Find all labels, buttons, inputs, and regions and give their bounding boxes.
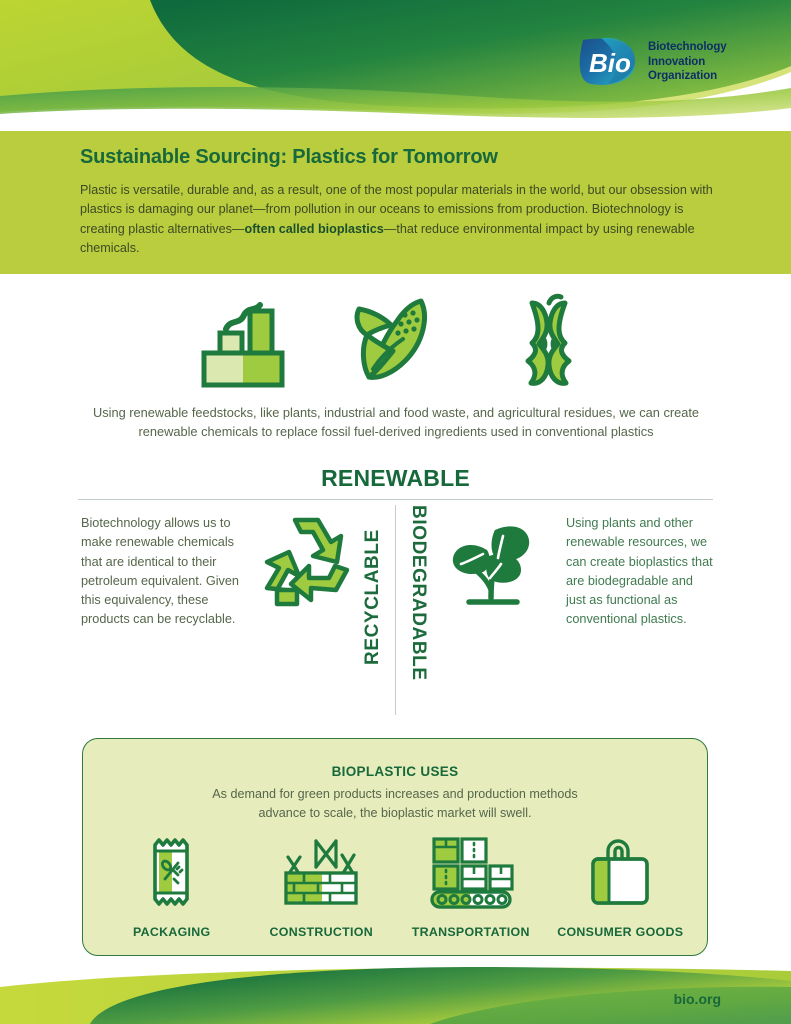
logo-line-1: Biotechnology [648,40,727,55]
apple-core-icon [501,291,596,396]
conveyor-boxes-icon [428,835,514,914]
use-label-packaging: PACKAGING [133,925,211,939]
uses-subtitle: As demand for green products increases a… [195,785,595,823]
biodegradable-description: Using plants and other renewable resourc… [566,514,716,630]
use-item-consumer-goods: CONSUMER GOODS [546,835,696,939]
uses-icon-grid: PACKAGING [97,835,695,939]
bio-logo[interactable]: Bio Biotechnology Innovation Organizatio… [577,34,727,90]
feedstock-caption: Using renewable feedstocks, like plants,… [80,403,712,441]
logo-line-3: Organization [648,69,727,84]
renewable-heading: RENEWABLE [0,465,791,492]
uses-title: BIOPLASTIC USES [83,764,707,779]
feedstock-icon-row [196,291,596,396]
use-item-transportation: TRANSPORTATION [396,835,546,939]
brick-wall-icon [282,835,360,914]
header-band: Sustainable Sourcing: Plastics for Tomor… [0,131,791,274]
vertical-label-biodegradable: BIODEGRADABLE [407,505,429,715]
page-title: Sustainable Sourcing: Plastics for Tomor… [80,146,498,169]
vertical-label-recyclable: RECYCLABLE [362,505,384,665]
section-divider [78,499,713,500]
svg-text:Bio: Bio [589,48,631,78]
food-package-icon [141,835,203,914]
use-label-construction: CONSTRUCTION [270,925,373,939]
infographic-page: Bio Biotechnology Innovation Organizatio… [0,0,791,1024]
bio-leaf-logo-icon: Bio [577,34,639,90]
plant-sprout-icon [443,512,543,622]
use-label-consumer-goods: CONSUMER GOODS [557,925,683,939]
use-label-transportation: TRANSPORTATION [412,925,530,939]
bottom-leaf-banner [0,965,791,1024]
header-paragraph: Plastic is versatile, durable and, as a … [80,181,714,258]
logo-line-2: Innovation [648,55,727,70]
logo-wordmark: Biotechnology Innovation Organization [648,40,727,84]
recyclable-description: Biotechnology allows us to make renewabl… [81,514,247,630]
corn-icon [349,291,444,396]
vertical-divider [395,505,396,715]
footer-url[interactable]: bio.org [674,991,721,1007]
use-item-construction: CONSTRUCTION [247,835,397,939]
shopping-bag-icon [585,835,655,914]
recycling-symbol-icon [255,512,359,617]
header-paragraph-emphasis: often called bioplastics [245,222,384,236]
bioplastic-uses-box: BIOPLASTIC USES As demand for green prod… [82,738,708,956]
recyclable-biodegradable-labels: RECYCLABLE BIODEGRADABLE [362,505,429,720]
use-item-packaging: PACKAGING [97,835,247,939]
factory-icon [196,291,291,396]
